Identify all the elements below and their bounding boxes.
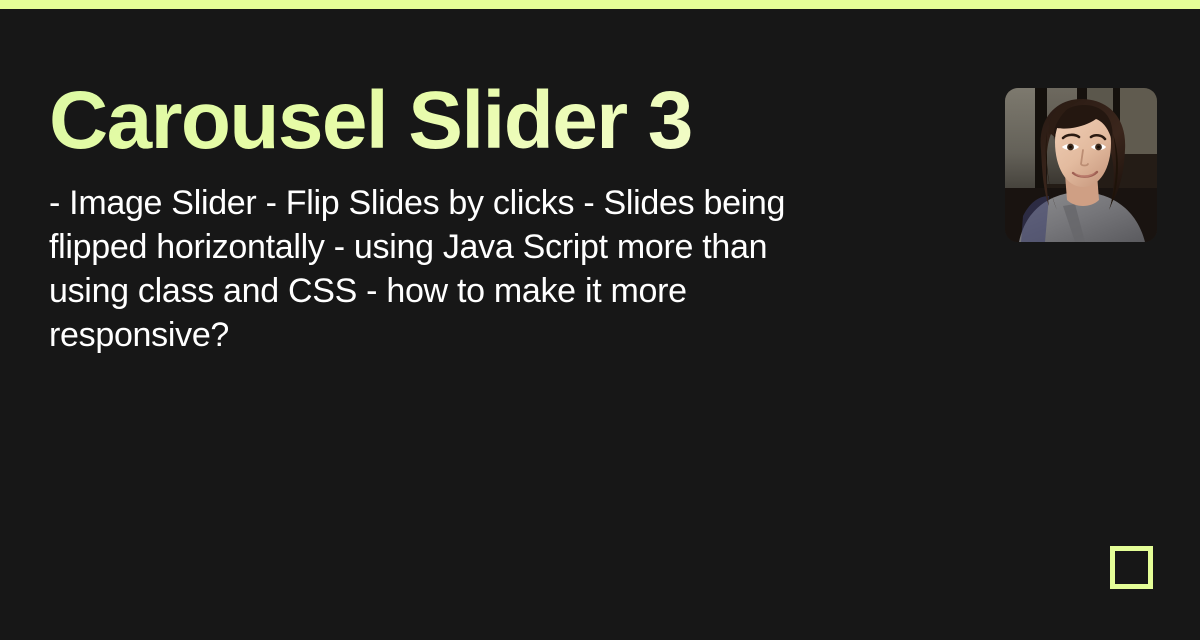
card-description: - Image Slider - Flip Slides by clicks -… [49,181,839,357]
page-title: Carousel Slider 3 [49,78,849,163]
social-preview-card: Carousel Slider 3 - Image Slider - Flip … [0,0,1200,640]
top-accent-bar [0,0,1200,9]
avatar [1005,88,1157,242]
avatar-photo [1005,88,1157,242]
card-content: Carousel Slider 3 - Image Slider - Flip … [49,78,849,357]
square-outline-mark-icon [1110,546,1153,589]
